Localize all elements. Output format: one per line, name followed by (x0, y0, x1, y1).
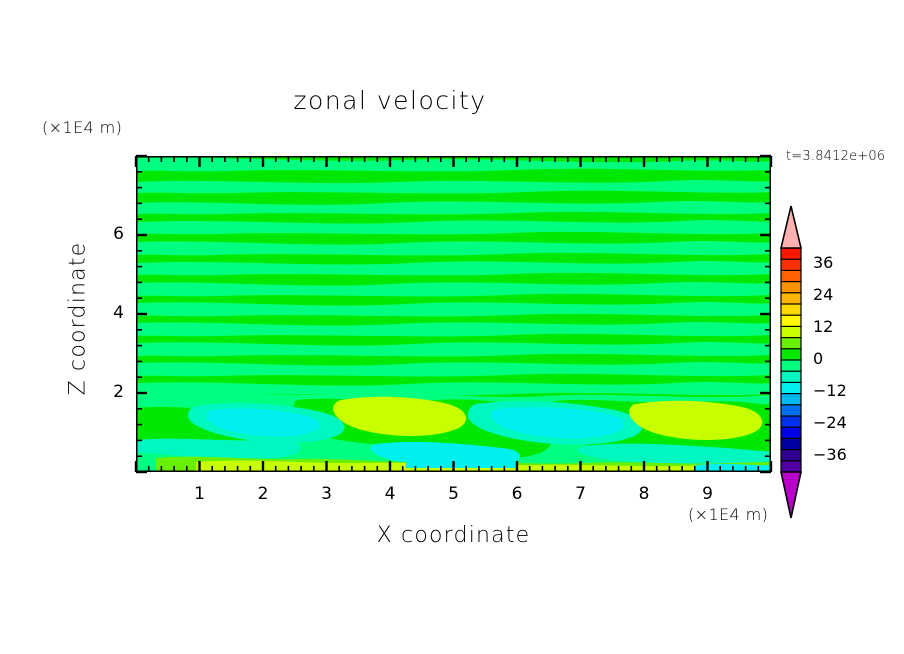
colorbar-under-arrow (781, 472, 801, 518)
colorbar-tick-label: −36 (813, 445, 863, 464)
colorbar-segment (781, 349, 801, 361)
x-tick-label: 7 (561, 484, 601, 504)
x-tick-label: 5 (434, 484, 474, 504)
colorbar-over-arrow (781, 206, 801, 248)
x-tick-label: 2 (243, 484, 283, 504)
colorbar-segment (781, 405, 801, 417)
colorbar-tick-label: 12 (813, 317, 863, 336)
x-tick-label: 1 (180, 484, 220, 504)
colorbar-tick-label: −24 (813, 413, 863, 432)
colorbar-segment (781, 461, 801, 473)
colorbar-segment (781, 338, 801, 350)
x-tick-label: 4 (370, 484, 410, 504)
colorbar-segment (781, 450, 801, 462)
colorbar-segment (781, 427, 801, 439)
colorbar-segment (781, 360, 801, 372)
colorbar-segment (781, 394, 801, 406)
x-tick-label: 9 (688, 484, 728, 504)
colorbar-tick-label: 0 (813, 349, 863, 368)
colorbar-segment (781, 270, 801, 282)
colorbar-segment (781, 326, 801, 338)
page-title: zonal velocity (0, 86, 780, 115)
x-tick-label: 8 (624, 484, 664, 504)
x-tick-label: 3 (307, 484, 347, 504)
colorbar-segment (781, 416, 801, 428)
colorbar-segment (781, 259, 801, 271)
y-axis-title: Z coordinate (66, 199, 91, 439)
colorbar-segment (781, 438, 801, 450)
colorbar-tick-label: 24 (813, 285, 863, 304)
colorbar-segment (781, 371, 801, 383)
colorbar-segment (781, 293, 801, 305)
colorbar-tick-label: −12 (813, 381, 863, 400)
colorbar-segment (781, 315, 801, 327)
colorbar-tick-label: 36 (813, 253, 863, 272)
x-tick-label: 6 (497, 484, 537, 504)
x-axis-unit-label: (×1E4 m) (688, 505, 768, 524)
colorbar-segment (781, 304, 801, 316)
x-axis-title: X coordinate (136, 523, 771, 548)
contour-field (136, 156, 771, 472)
colorbar-segment (781, 382, 801, 394)
figure-canvas: zonal velocity (×1E4 m) t=3.8412e+06 (0, 0, 904, 654)
colorbar-segment (781, 282, 801, 294)
time-annotation: t=3.8412e+06 (786, 149, 885, 164)
colorbar-segment (781, 248, 801, 260)
y-axis-unit-label: (×1E4 m) (42, 118, 122, 137)
